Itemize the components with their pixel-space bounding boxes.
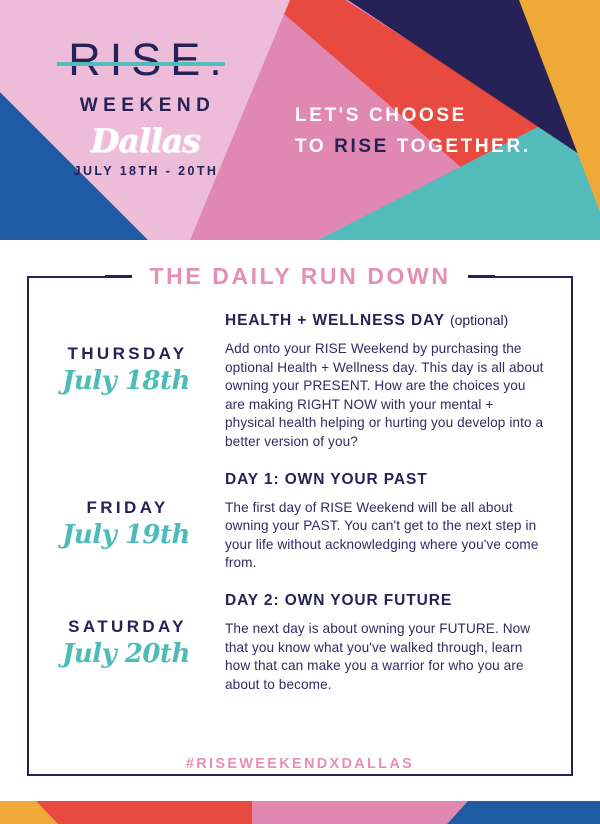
day-date: July 18th xyxy=(27,365,225,397)
day-heading-text: DAY 1: OWN YOUR PAST xyxy=(225,471,428,488)
day-heading: DAY 1: OWN YOUR PAST xyxy=(225,470,545,490)
day-content-saturday: DAY 2: OWN YOUR FUTURE The next day is a… xyxy=(225,591,573,694)
day-description: Add onto your RISE Weekend by purchasing… xyxy=(225,340,545,452)
title-rule-left xyxy=(105,275,132,277)
poster: RISE. WEEKEND Dallas JULY 18TH - 20TH LE… xyxy=(0,0,600,824)
event-hashtag: #RISEWEEKENDXDALLAS xyxy=(170,756,430,772)
day-date: July 19th xyxy=(27,519,225,551)
day-heading-note: (optional) xyxy=(450,312,508,328)
day-heading: HEALTH + WELLNESS DAY (optional) xyxy=(225,310,545,331)
bottom-shape-blue xyxy=(447,801,600,824)
hashtag-row: #RISEWEEKENDXDALLAS xyxy=(0,752,600,776)
section-title-row: THE DAILY RUN DOWN xyxy=(0,255,600,297)
day-description: The next day is about owning your FUTURE… xyxy=(225,620,545,694)
header-geometric-background xyxy=(0,0,600,240)
day-heading-text: HEALTH + WELLNESS DAY xyxy=(225,312,445,329)
day-date: July 20th xyxy=(27,638,225,670)
title-rule-right xyxy=(468,275,495,277)
day-row: THURSDAY July 18th HEALTH + WELLNESS DAY… xyxy=(27,310,573,452)
daily-rundown-list: THURSDAY July 18th HEALTH + WELLNESS DAY… xyxy=(27,310,573,712)
day-content-thursday: HEALTH + WELLNESS DAY (optional) Add ont… xyxy=(225,310,573,452)
header-banner: RISE. WEEKEND Dallas JULY 18TH - 20TH LE… xyxy=(0,0,600,240)
day-name: FRIDAY xyxy=(27,498,225,518)
bottom-bar-shapes xyxy=(0,795,600,824)
day-label-thursday: THURSDAY July 18th xyxy=(27,310,225,397)
bottom-shape-pink xyxy=(252,801,468,824)
day-heading-text: DAY 2: OWN YOUR FUTURE xyxy=(225,592,452,609)
day-description: The first day of RISE Weekend will be al… xyxy=(225,499,545,573)
section-title: THE DAILY RUN DOWN xyxy=(132,263,467,290)
day-content-friday: DAY 1: OWN YOUR PAST The first day of RI… xyxy=(225,470,573,573)
day-label-saturday: SATURDAY July 20th xyxy=(27,591,225,670)
bottom-shape-coral xyxy=(36,801,252,824)
day-name: SATURDAY xyxy=(27,617,225,637)
bottom-color-bar xyxy=(0,795,600,824)
day-row: SATURDAY July 20th DAY 2: OWN YOUR FUTUR… xyxy=(27,591,573,694)
day-row: FRIDAY July 19th DAY 1: OWN YOUR PAST Th… xyxy=(27,470,573,573)
day-heading: DAY 2: OWN YOUR FUTURE xyxy=(225,591,545,611)
day-label-friday: FRIDAY July 19th xyxy=(27,470,225,551)
day-name: THURSDAY xyxy=(27,344,225,364)
